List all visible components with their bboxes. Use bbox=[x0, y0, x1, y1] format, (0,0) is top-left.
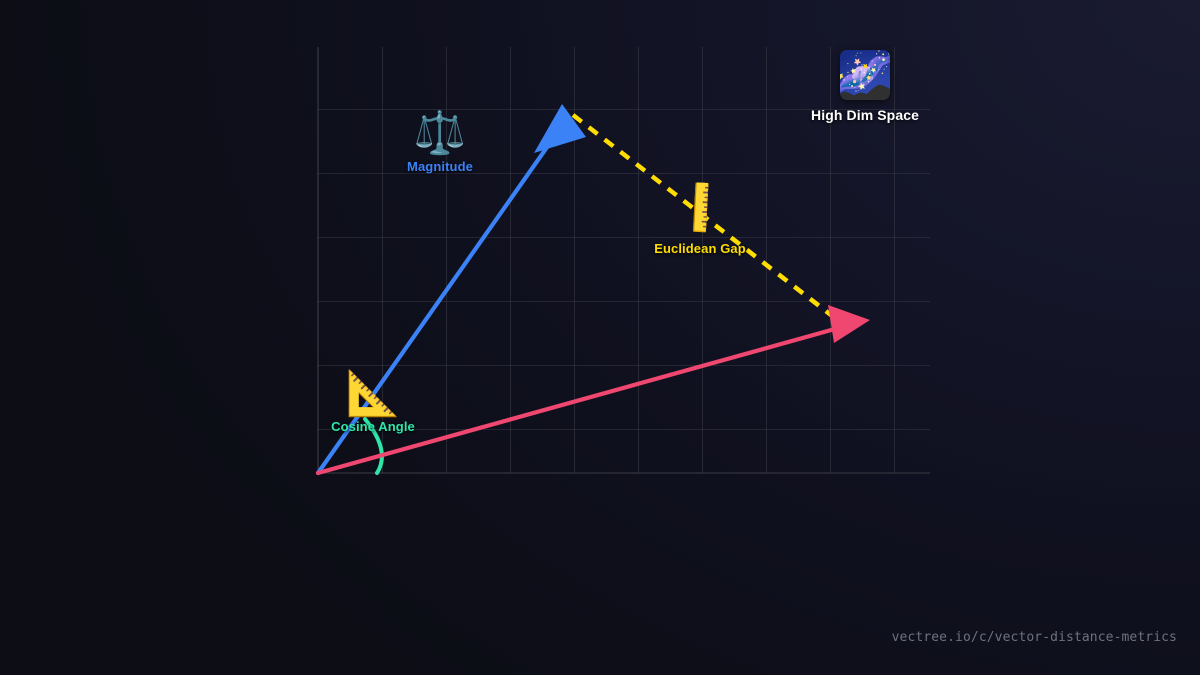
screenshot-canvas: ⚖️ Magnitude 📏 Euclidean Gap 📐 Cosine An… bbox=[0, 0, 1200, 675]
marker-cosine-angle: 📐 Cosine Angle bbox=[318, 372, 428, 433]
footer: Vectree Comparison of Euclidean vs dista… bbox=[0, 490, 1200, 675]
high-dim-space-thumbnail: 🌌 bbox=[840, 50, 890, 100]
marker-magnitude: ⚖️ Magnitude bbox=[392, 112, 488, 173]
marker-euclidean-gap: 📏 Euclidean Gap bbox=[640, 188, 760, 255]
milky-way-icon: 🌌 bbox=[840, 50, 890, 100]
marker-high-dim-space-label: High Dim Space bbox=[806, 108, 924, 122]
triangular-ruler-icon: 📐 bbox=[318, 372, 428, 416]
balance-scale-icon: ⚖️ bbox=[392, 112, 488, 154]
marker-cosine-label: Cosine Angle bbox=[318, 420, 428, 433]
marker-high-dim-space: 🌌 High Dim Space bbox=[806, 50, 924, 122]
marker-magnitude-label: Magnitude bbox=[392, 160, 488, 173]
source-url: vectree.io/c/vector-distance-metrics bbox=[892, 630, 1177, 645]
